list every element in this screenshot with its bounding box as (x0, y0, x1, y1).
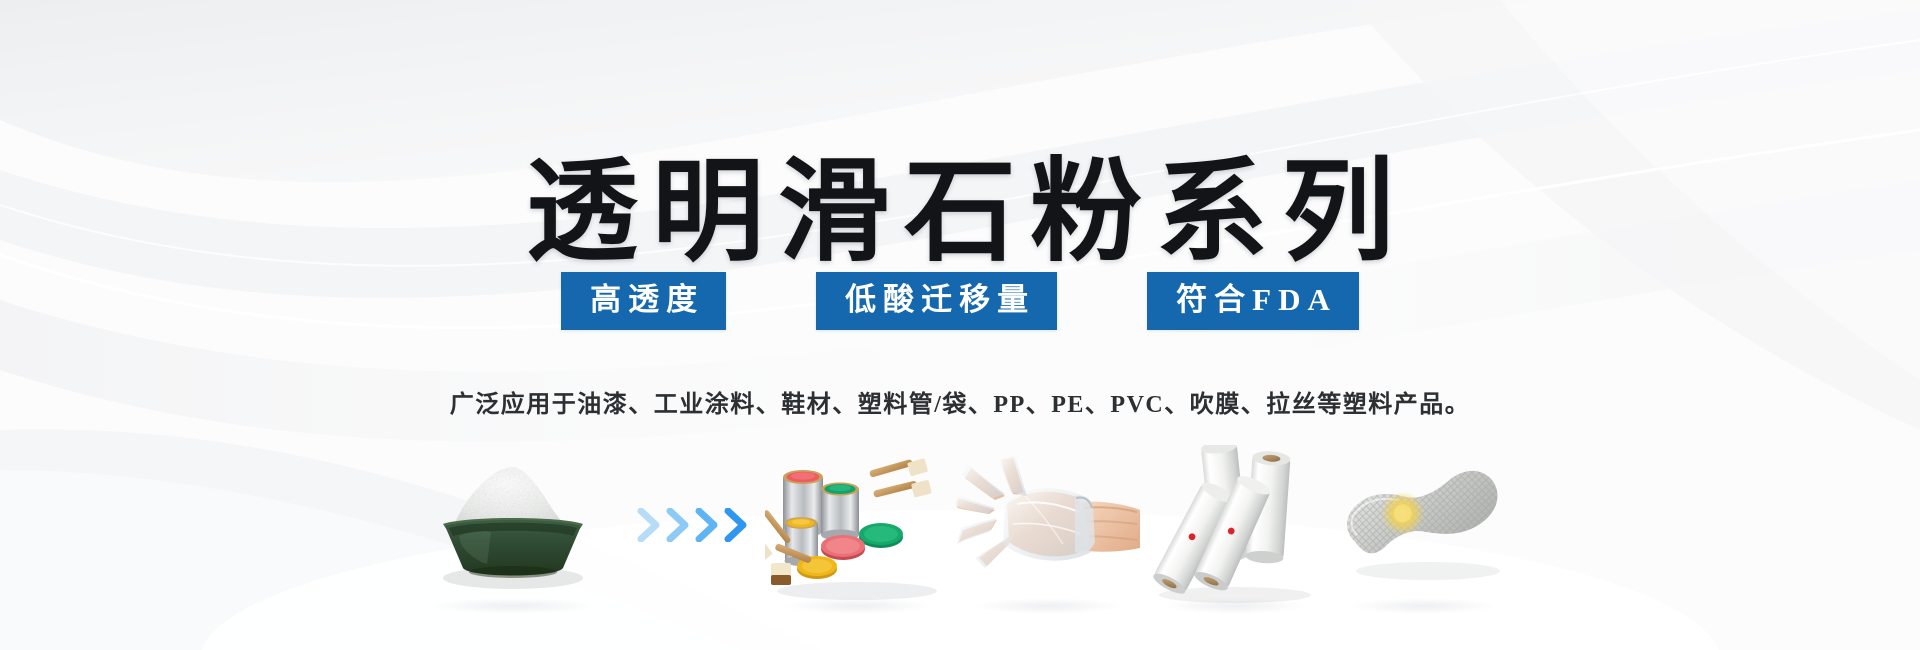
product-image-paint-cans (763, 430, 953, 620)
paint-brush-mid (873, 480, 932, 498)
feature-badge-high-transparency[interactable]: 高透度 (561, 272, 726, 330)
chevron-right-icon-1 (636, 508, 662, 542)
object-reflection (1163, 598, 1307, 614)
feature-badge-low-acid-migration[interactable]: 低酸迁移量 (816, 272, 1057, 330)
feature-badge-fda-compliant[interactable]: 符合FDA (1147, 272, 1359, 330)
object-reflection (1348, 598, 1496, 614)
paint-lid-green (859, 523, 903, 548)
chevron-right-icon-4 (723, 508, 749, 542)
product-image-shoe-sole (1328, 430, 1518, 620)
paint-can-green (821, 482, 859, 540)
feature-badge-list: 高透度 低酸迁移量 符合FDA (0, 272, 1920, 330)
page-title: 透明滑石粉系列 (512, 153, 1408, 274)
product-image-film-rolls (1143, 430, 1328, 620)
application-description: 广泛应用于油漆、工业涂料、鞋材、塑料管/袋、PP、PE、PVC、吹膜、拉丝等塑料… (450, 384, 1470, 419)
process-arrows (623, 430, 763, 620)
chevron-right-icon-3 (694, 508, 720, 542)
object-reflection (783, 598, 931, 614)
product-application-strip (0, 430, 1920, 620)
object-reflection (427, 598, 599, 614)
product-image-plastic-glove (953, 430, 1143, 620)
paint-brush-upper (869, 458, 928, 478)
product-banner: 透明滑石粉系列 高透度 低酸迁移量 符合FDA 广泛应用于油漆、工业涂料、鞋材、… (0, 0, 1920, 650)
paint-lid-pink (821, 535, 865, 560)
object-reflection (973, 598, 1121, 614)
chevron-right-icon-2 (665, 508, 691, 542)
product-image-talc-powder-bowl (403, 430, 623, 620)
